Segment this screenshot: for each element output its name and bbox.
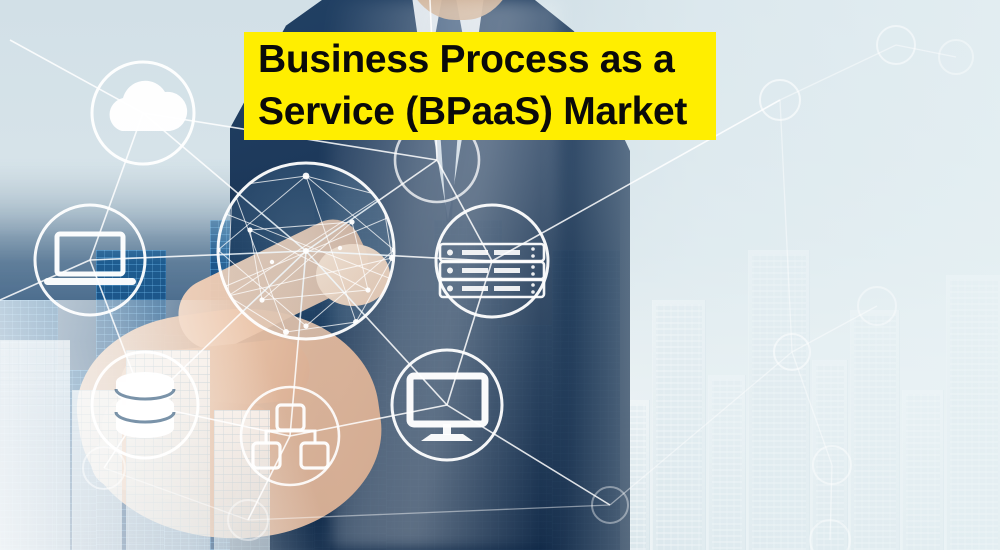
promo-banner-image: Business Process as a Service (BPaaS) Ma… bbox=[0, 0, 1000, 550]
server-rack-icon bbox=[436, 205, 548, 317]
title-line-2: Service (BPaaS) Market bbox=[258, 86, 716, 138]
title-line-1: Business Process as a bbox=[258, 34, 716, 86]
title-highlight-banner: Business Process as a Service (BPaaS) Ma… bbox=[244, 32, 716, 140]
network-sphere-icon bbox=[215, 163, 396, 339]
database-icon bbox=[92, 352, 198, 458]
cloud-icon bbox=[92, 62, 194, 164]
